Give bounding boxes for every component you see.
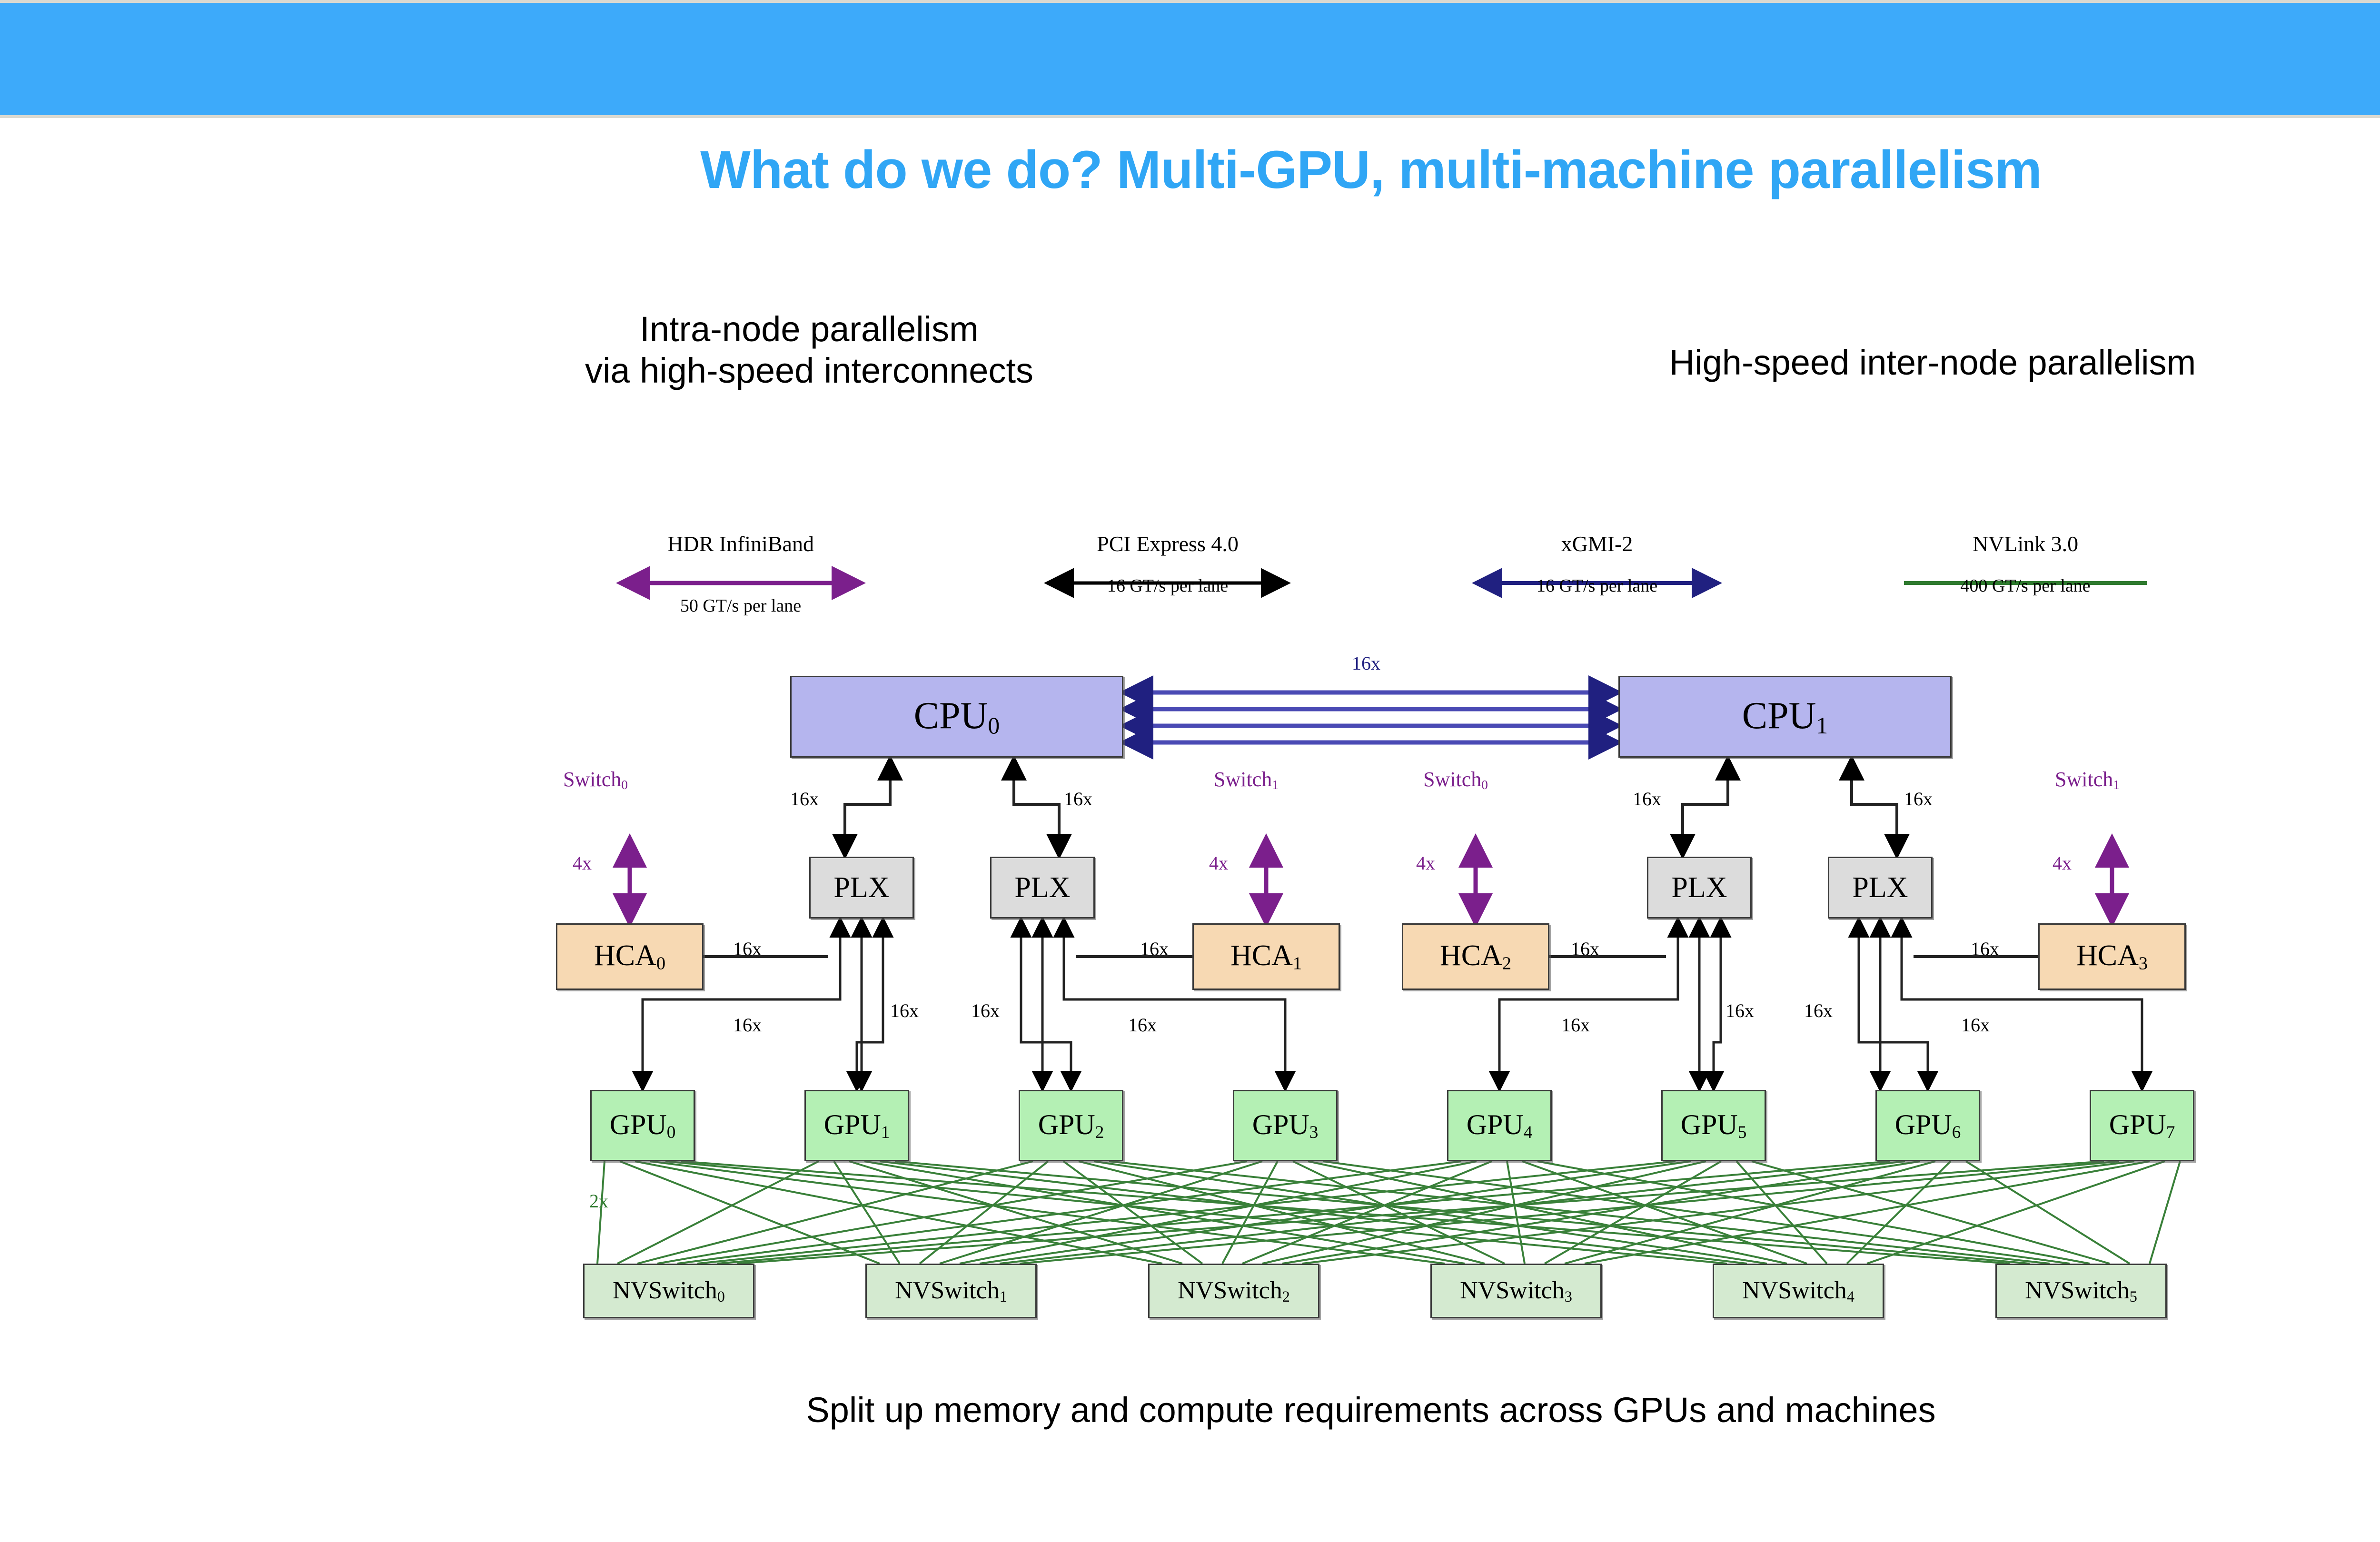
gpu-box-4-label: GPU4 [1467, 1108, 1533, 1143]
nvswitch-box-3: NVSwitch3 [1430, 1264, 1602, 1318]
plx-box-0: PLX [809, 857, 914, 919]
nvswitch-box-5-label: NVSwitch5 [2025, 1276, 2137, 1305]
legend-infiniband: HDR InfiniBand 50 GT/s per lane [574, 533, 907, 615]
switch-label-1: Switch1 [1214, 767, 1279, 792]
nvswitch-box-3-index: 3 [1565, 1288, 1572, 1305]
hca-box-2-label: HCA2 [1440, 939, 1511, 974]
legend-infiniband-rate: 50 GT/s per lane [574, 597, 907, 615]
nvswitch-box-4-label: NVSwitch4 [1742, 1276, 1854, 1305]
cpu-box-1: CPU1 [1618, 676, 1952, 758]
hca-box-1-label: HCA1 [1230, 939, 1302, 974]
cpu-box-0: CPU0 [790, 676, 1123, 758]
plx-box-1-label: PLX [1014, 871, 1070, 905]
cpu-box-1-label: CPU1 [1742, 694, 1828, 739]
hca-box-3-label: HCA3 [2076, 939, 2148, 974]
legend-xgmi-name: xGMI-2 [1430, 533, 1764, 555]
nvswitch-box-1: NVSwitch1 [865, 1264, 1037, 1318]
legend-xgmi-rate: 16 GT/s per lane [1430, 577, 1764, 595]
gpu-box-1-label: GPU1 [824, 1108, 890, 1143]
nvswitch-box-2-index: 2 [1282, 1288, 1290, 1305]
pcie-multiplier-label-2: 16x [1633, 788, 1661, 810]
gpu-box-3: GPU3 [1233, 1090, 1338, 1161]
gpu-box-5: GPU5 [1661, 1090, 1766, 1161]
pcie-multiplier-label-0: 16x [790, 788, 819, 810]
legend-infiniband-name: HDR InfiniBand [574, 533, 907, 555]
pcie-multiplier-label-12: 16x [1561, 1014, 1590, 1036]
gpu-box-6-index: 6 [1952, 1123, 1961, 1142]
gpu-box-5-index: 5 [1738, 1123, 1747, 1142]
legend-pcie-rate: 16 GT/s per lane [1001, 577, 1334, 595]
nvswitch-box-5-index: 5 [2130, 1288, 2137, 1305]
legend-nvlink-name: NVLink 3.0 [1859, 533, 2192, 555]
pcie-multiplier-label-3: 16x [1904, 788, 1933, 810]
pcie-multiplier-label-4: 16x [733, 938, 762, 960]
switch-rate-label-2: 4x [1416, 852, 1435, 874]
pcie-multiplier-label-7: 16x [1971, 938, 1999, 960]
nvlink-multiplier-label: 2x [589, 1190, 608, 1212]
plx-box-0-label: PLX [833, 871, 889, 905]
nvswitch-box-1-index: 1 [1000, 1288, 1007, 1305]
nvswitch-box-0: NVSwitch0 [583, 1264, 754, 1318]
gpu-box-0: GPU0 [590, 1090, 695, 1161]
gpu-box-7: GPU7 [2090, 1090, 2194, 1161]
gpu-box-3-index: 3 [1309, 1123, 1319, 1142]
pcie-multiplier-label-13: 16x [1725, 999, 1754, 1022]
switch-label-0: Switch0 [563, 767, 628, 792]
gpu-box-0-label: GPU0 [610, 1108, 676, 1143]
hca-box-0: HCA0 [556, 923, 704, 990]
switch-rate-label-0: 4x [573, 852, 592, 874]
nvswitch-box-1-label: NVSwitch1 [895, 1276, 1007, 1305]
pcie-multiplier-label-8: 16x [733, 1014, 762, 1036]
nvswitch-box-2-label: NVSwitch2 [1178, 1276, 1290, 1305]
pcie-multiplier-label-1: 16x [1064, 788, 1092, 810]
gpu-box-2-label: GPU2 [1038, 1108, 1104, 1143]
gpu-box-1-index: 1 [881, 1123, 890, 1142]
hca-box-2-index: 2 [1502, 954, 1511, 974]
cpu-box-0-index: 0 [988, 712, 1000, 739]
plx-box-1: PLX [990, 857, 1095, 919]
gpu-box-7-label: GPU7 [2109, 1108, 2175, 1143]
hca-box-1: HCA1 [1192, 923, 1340, 990]
gpu-box-2: GPU2 [1019, 1090, 1123, 1161]
slide: What do we do? Multi-GPU, multi-machine … [0, 0, 2380, 1542]
gpu-box-7-index: 7 [2166, 1123, 2175, 1142]
plx-box-3-label: PLX [1852, 871, 1908, 905]
gpu-box-6: GPU6 [1875, 1090, 1980, 1161]
pcie-multiplier-label-9: 16x [890, 999, 919, 1022]
switch-label-2: Switch0 [1423, 767, 1488, 792]
nvswitch-box-0-label: NVSwitch0 [613, 1276, 725, 1305]
plx-box-2: PLX [1647, 857, 1752, 919]
nvswitch-box-3-label: NVSwitch3 [1460, 1276, 1572, 1305]
topology-diagram: HDR InfiniBand 50 GT/s per lane PCI Expr… [0, 0, 2380, 1542]
legend-xgmi: xGMI-2 16 GT/s per lane [1430, 533, 1764, 595]
gpu-box-1: GPU1 [804, 1090, 909, 1161]
legend-nvlink-rate: 400 GT/s per lane [1859, 577, 2192, 595]
pcie-multiplier-label-15: 16x [1961, 1014, 1990, 1036]
gpu-box-3-label: GPU3 [1252, 1108, 1319, 1143]
nvswitch-box-4: NVSwitch4 [1713, 1264, 1884, 1318]
cpu-link-label: 16x [1352, 652, 1380, 674]
nvswitch-box-2: NVSwitch2 [1148, 1264, 1319, 1318]
hca-box-2: HCA2 [1402, 923, 1549, 990]
hca-box-3: HCA3 [2038, 923, 2186, 990]
gpu-box-2-index: 2 [1095, 1123, 1104, 1142]
nvswitch-box-5: NVSwitch5 [1995, 1264, 2167, 1318]
pcie-multiplier-label-11: 16x [1128, 1014, 1157, 1036]
cpu-box-0-label: CPU0 [914, 694, 1000, 739]
nvswitch-box-4-index: 4 [1847, 1288, 1854, 1305]
legend-pcie: PCI Express 4.0 16 GT/s per lane [1001, 533, 1334, 595]
switch-rate-label-3: 4x [2053, 852, 2072, 874]
cpu-box-1-index: 1 [1816, 712, 1828, 739]
pcie-multiplier-label-6: 16x [1571, 938, 1599, 960]
gpu-box-6-label: GPU6 [1895, 1108, 1961, 1143]
hca-box-0-index: 0 [656, 954, 665, 974]
slide-caption: Split up memory and compute requirements… [0, 1390, 2380, 1430]
hca-box-1-index: 1 [1293, 954, 1302, 974]
switch-label-3: Switch1 [2055, 767, 2120, 792]
pcie-multiplier-label-14: 16x [1804, 999, 1833, 1022]
legend-pcie-name: PCI Express 4.0 [1001, 533, 1334, 555]
hca-box-0-label: HCA0 [594, 939, 665, 974]
pcie-multiplier-label-5: 16x [1140, 938, 1169, 960]
gpu-box-0-index: 0 [667, 1123, 676, 1142]
gpu-box-4: GPU4 [1447, 1090, 1552, 1161]
legend-nvlink: NVLink 3.0 400 GT/s per lane [1859, 533, 2192, 595]
pcie-multiplier-label-10: 16x [971, 999, 1000, 1022]
nvswitch-box-0-index: 0 [717, 1288, 725, 1305]
plx-box-3: PLX [1828, 857, 1933, 919]
gpu-box-4-index: 4 [1524, 1123, 1533, 1142]
plx-box-2-label: PLX [1671, 871, 1727, 905]
switch-rate-label-1: 4x [1209, 852, 1228, 874]
hca-box-3-index: 3 [2139, 954, 2148, 974]
gpu-box-5-label: GPU5 [1681, 1108, 1747, 1143]
